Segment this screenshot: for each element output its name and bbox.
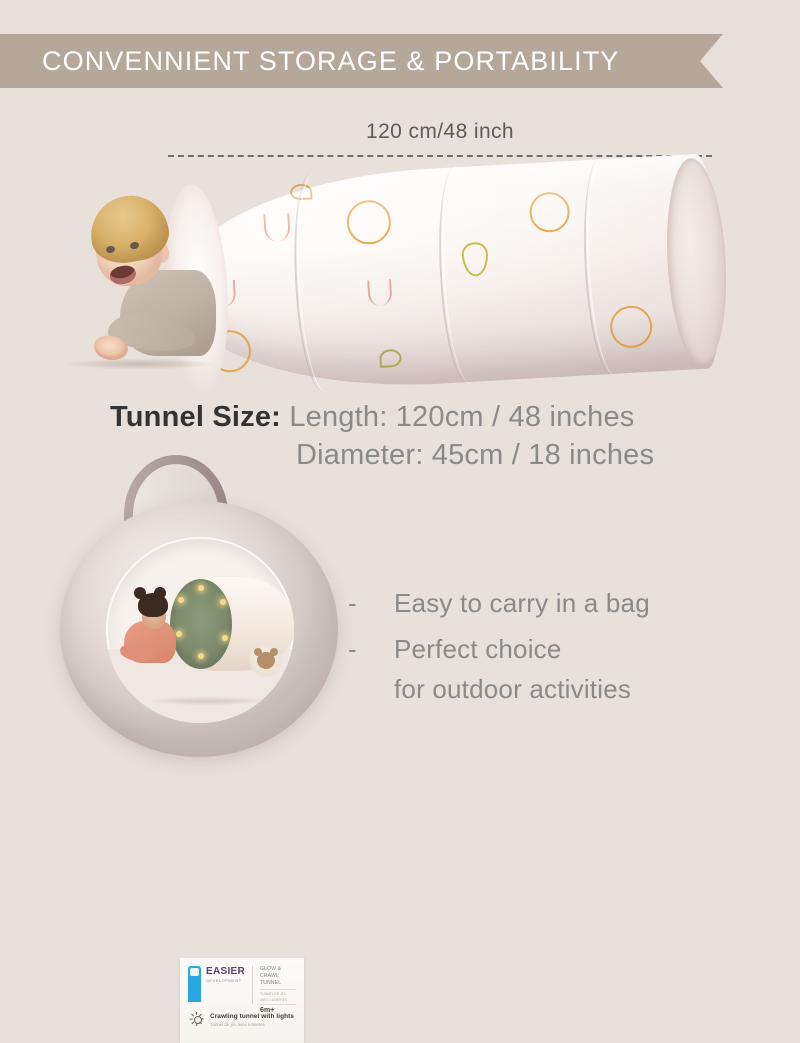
product-line-2: TUNNEL (260, 980, 296, 987)
product-block: GLOW & CRAWL TUNNEL TUNNEL DE JEU AVEC L… (260, 966, 296, 1004)
feature-text-fr: Tunnel de jeu avec lumieres (210, 1021, 294, 1028)
bag-clear-window (106, 537, 294, 723)
product-feature-slide: CONVENNIENT STORAGE & PORTABILITY 120 cm… (0, 0, 800, 800)
product-line-1: GLOW & CRAWL (260, 966, 296, 980)
benefit-text: Perfect choice for outdoor activities (394, 629, 631, 709)
packshot-child-hair-bun (134, 587, 146, 599)
feature-text-en: Crawling tunnel with lights (210, 1012, 294, 1021)
insert-divider (252, 966, 253, 1004)
teddy-bear-icon (250, 645, 282, 677)
floor-shadow (34, 356, 244, 372)
size-spec-title: Tunnel Size: (110, 401, 281, 433)
packshot-shadow (122, 695, 292, 707)
insert-feature-text: Crawling tunnel with lights Tunnel de je… (210, 1012, 294, 1028)
sun-ray (191, 1014, 194, 1017)
sun-ray (199, 1021, 202, 1024)
banner-title: CONVENNIENT STORAGE & PORTABILITY (42, 46, 619, 77)
insert-feature-row: Crawling tunnel with lights Tunnel de je… (190, 1012, 296, 1028)
packshot-child (120, 593, 182, 671)
hero-product-photo (0, 160, 800, 395)
sun-light-icon (190, 1012, 204, 1026)
bear-face (257, 652, 275, 669)
list-item: - Perfect choice for outdoor activities (348, 629, 768, 709)
light-dot-icon (198, 653, 204, 659)
brand-name: EASIER (206, 966, 245, 978)
brand-badge-icon (188, 966, 201, 1002)
brand-block: EASIER DEVELOPMENT (206, 966, 245, 1004)
sun-ray (201, 1018, 204, 1019)
list-item: - Easy to carry in a bag (348, 583, 768, 623)
brand-tagline: DEVELOPMENT (206, 978, 245, 984)
bullet-dash-icon: - (348, 583, 394, 623)
tunnel-shading (169, 153, 725, 398)
light-dot-icon (222, 635, 228, 641)
benefits-list: - Easy to carry in a bag - Perfect choic… (348, 583, 768, 715)
benefit-line-2: for outdoor activities (394, 669, 631, 709)
bag-body (60, 501, 338, 757)
bullet-dash-icon: - (348, 629, 394, 669)
packshot-child-hair-bun (154, 587, 166, 599)
play-tunnel (169, 153, 725, 398)
dimension-caption: 120 cm/48 inch (168, 120, 712, 144)
carry-bag: EASIER DEVELOPMENT GLOW & CRAWL TUNNEL T… (52, 455, 342, 760)
light-dot-icon (198, 585, 204, 591)
sun-ray (196, 1012, 197, 1015)
sun-ray (191, 1021, 194, 1024)
insert-header-row: EASIER DEVELOPMENT GLOW & CRAWL TUNNEL T… (188, 966, 296, 1004)
sun-ray (190, 1018, 193, 1019)
header-banner: CONVENNIENT STORAGE & PORTABILITY (0, 34, 723, 88)
size-spec-length: Length: 120cm / 48 inches (289, 401, 634, 433)
product-meta: TUNNEL DE JEU AVEC LUMIERES (260, 989, 296, 1005)
size-spec-line-1: Tunnel Size: Length: 120cm / 48 inches (110, 398, 790, 436)
benefit-text: Easy to carry in a bag (394, 583, 650, 623)
benefit-line-1: Perfect choice (394, 629, 631, 669)
benefit-line-1: Easy to carry in a bag (394, 583, 650, 623)
light-dot-icon (220, 599, 226, 605)
packaging-insert-card: EASIER DEVELOPMENT GLOW & CRAWL TUNNEL T… (180, 958, 304, 1043)
